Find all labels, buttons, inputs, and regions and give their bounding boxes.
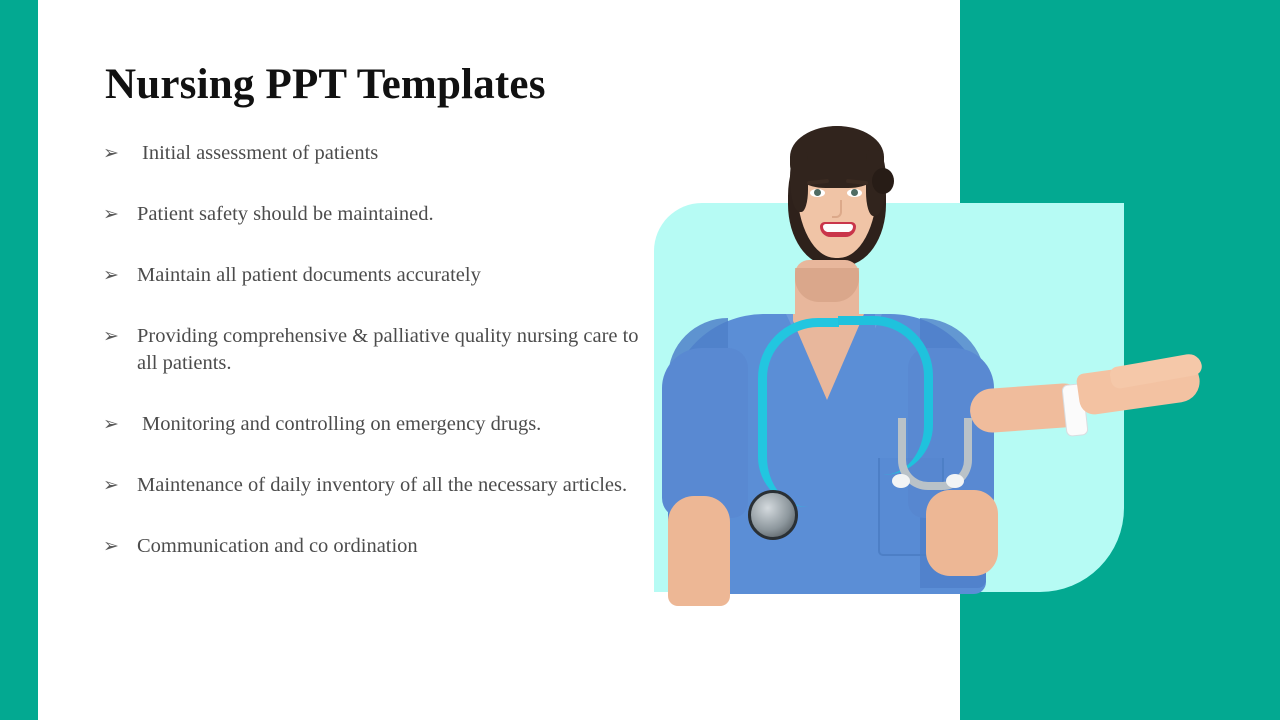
stethoscope-eartip-right xyxy=(946,474,964,488)
iris-left-shape xyxy=(814,189,821,196)
arrow-bullet-icon: ➢ xyxy=(103,472,137,499)
hair-left-icon xyxy=(790,150,808,212)
nose-shape xyxy=(832,200,842,218)
list-item: ➢ Communication and co ordination xyxy=(103,533,643,560)
iris-right-shape xyxy=(851,189,858,196)
arrow-bullet-icon: ➢ xyxy=(103,411,137,438)
list-item: ➢ Providing comprehensive & palliative q… xyxy=(103,323,643,377)
list-item-label: Maintenance of daily inventory of all th… xyxy=(137,472,643,499)
list-item-label: Monitoring and controlling on emergency … xyxy=(137,411,643,438)
teeth-shape xyxy=(823,224,853,232)
stethoscope-tube-left xyxy=(758,318,839,507)
list-item: ➢ Monitoring and controlling on emergenc… xyxy=(103,411,643,438)
list-item: ➢ Maintain all patient documents accurat… xyxy=(103,262,643,289)
list-item-label: Patient safety should be maintained. xyxy=(137,201,643,228)
list-item-label: Maintain all patient documents accuratel… xyxy=(137,262,643,289)
slide-canvas: Nursing PPT Templates ➢ Initial assessme… xyxy=(0,0,1280,720)
list-item-label: Communication and co ordination xyxy=(137,533,643,560)
stethoscope-chestpiece-icon xyxy=(748,490,798,540)
arm-right-shape xyxy=(926,490,998,576)
list-item-label: Providing comprehensive & palliative qua… xyxy=(137,323,643,377)
neck-shadow-shape xyxy=(795,268,859,302)
stethoscope-eartip-left xyxy=(892,474,910,488)
bullet-list: ➢ Initial assessment of patients ➢ Patie… xyxy=(103,140,643,594)
arrow-bullet-icon: ➢ xyxy=(103,323,137,350)
hair-bun-icon xyxy=(872,168,894,194)
page-title: Nursing PPT Templates xyxy=(105,60,546,109)
nurse-photo xyxy=(640,118,1220,593)
list-item-label: Initial assessment of patients xyxy=(137,140,643,167)
arrow-bullet-icon: ➢ xyxy=(103,140,137,167)
arrow-bullet-icon: ➢ xyxy=(103,533,137,560)
list-item: ➢ Maintenance of daily inventory of all … xyxy=(103,472,643,499)
left-teal-accent-bar xyxy=(0,0,38,720)
list-item: ➢ Initial assessment of patients xyxy=(103,140,643,167)
list-item: ➢ Patient safety should be maintained. xyxy=(103,201,643,228)
sleeve-left-shape xyxy=(662,348,748,518)
arrow-bullet-icon: ➢ xyxy=(103,201,137,228)
arrow-bullet-icon: ➢ xyxy=(103,262,137,289)
arm-left-shape xyxy=(668,496,730,606)
